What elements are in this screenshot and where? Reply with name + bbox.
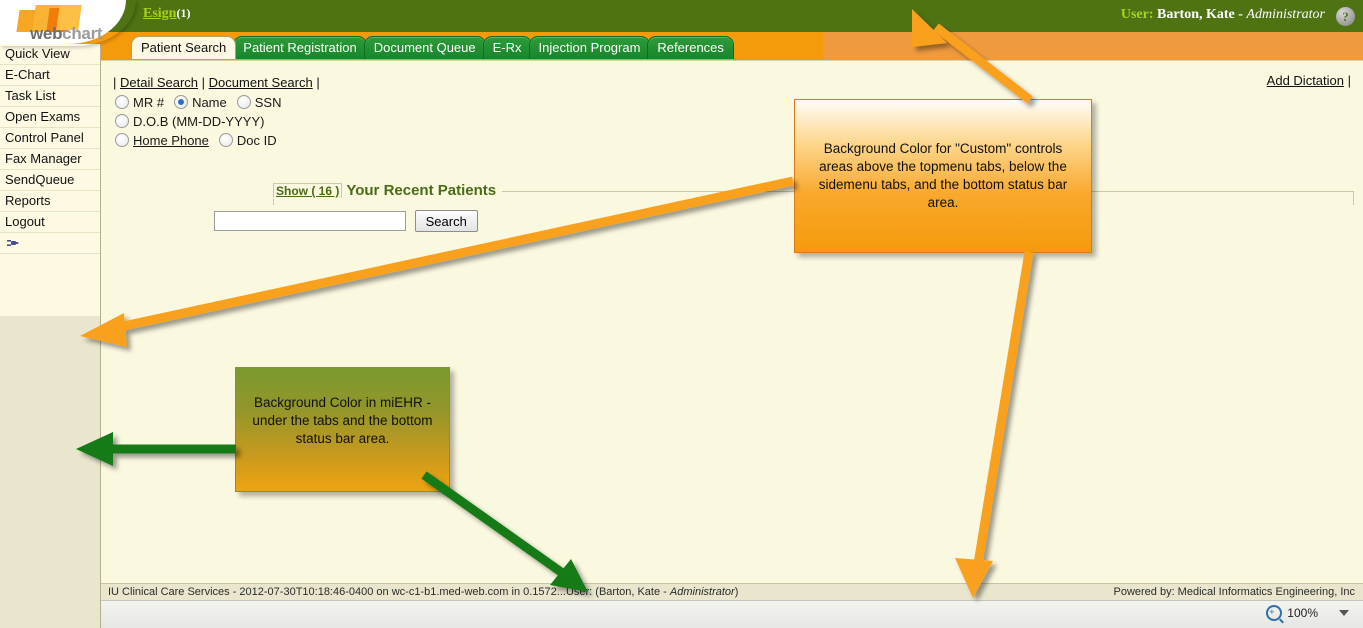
links-suffix: | bbox=[313, 75, 320, 90]
search-input[interactable] bbox=[214, 211, 406, 231]
add-dictation-area: Add Dictation | bbox=[1267, 73, 1351, 88]
powered-by-text: Powered by: Medical Informatics Engineer… bbox=[1113, 584, 1355, 600]
user-label: User: bbox=[1121, 7, 1154, 22]
sidebar-item-logout[interactable]: Logout bbox=[0, 212, 100, 233]
recent-show-toggle[interactable]: Show ( 16 ) bbox=[273, 183, 342, 198]
logo-web: web bbox=[30, 24, 62, 43]
magnifier-plus-icon[interactable]: + bbox=[1266, 605, 1282, 621]
user-role: Administrator bbox=[1246, 7, 1325, 22]
sidebar-plug-row[interactable] bbox=[0, 233, 100, 254]
logo-chart: chart bbox=[62, 24, 102, 43]
plug-icon[interactable] bbox=[6, 235, 19, 246]
callout-miehr-background-text: Background Color in miEHR - under the ta… bbox=[246, 394, 439, 448]
status-close: ) bbox=[735, 586, 739, 598]
radio-label-name: Name bbox=[192, 95, 227, 110]
sidebar-item-control-panel[interactable]: Control Panel bbox=[0, 128, 100, 149]
radio-label-home-phone[interactable]: Home Phone bbox=[133, 133, 209, 148]
top-menu-tabs: Patient SearchPatient RegistrationDocume… bbox=[131, 36, 731, 60]
sidebar-item-task-list[interactable]: Task List bbox=[0, 86, 100, 107]
radio-ssn[interactable] bbox=[237, 95, 251, 109]
radio-home-phone[interactable] bbox=[115, 133, 129, 147]
radio-dob[interactable] bbox=[115, 114, 129, 128]
document-search-link[interactable]: Document Search bbox=[209, 75, 313, 90]
add-dictation-suffix: | bbox=[1344, 73, 1351, 88]
sidebar-custom-background bbox=[0, 316, 100, 628]
add-dictation-link[interactable]: Add Dictation bbox=[1267, 73, 1344, 88]
zoom-control[interactable]: + 100% bbox=[1266, 605, 1349, 621]
tab-references[interactable]: References bbox=[647, 36, 733, 59]
callout-miehr-background: Background Color in miEHR - under the ta… bbox=[235, 367, 450, 492]
tab-patient-search[interactable]: Patient Search bbox=[131, 36, 236, 59]
links-sep: | bbox=[198, 75, 209, 90]
radio-label-ssn: SSN bbox=[255, 95, 282, 110]
user-name: Barton, Kate - bbox=[1157, 7, 1246, 22]
tab-injection-program[interactable]: Injection Program bbox=[529, 36, 651, 59]
radio-row-3: Home PhoneDoc ID bbox=[115, 131, 291, 150]
status-text: IU Clinical Care Services - 2012-07-30T1… bbox=[108, 586, 670, 598]
radio-row-1: MR #NameSSN bbox=[115, 93, 291, 112]
search-button[interactable]: Search bbox=[415, 210, 478, 232]
callout-custom-background: Background Color for "Custom" controls a… bbox=[794, 99, 1092, 253]
orange-accent-strip-light bbox=[823, 32, 1363, 60]
sidebar-item-sendqueue[interactable]: SendQueue bbox=[0, 170, 100, 191]
tab-patient-registration[interactable]: Patient Registration bbox=[233, 36, 366, 59]
sidebar-item-open-exams[interactable]: Open Exams bbox=[0, 107, 100, 128]
browser-status-bar: + 100% bbox=[0, 600, 1363, 628]
sidebar-item-quick-view[interactable]: Quick View bbox=[0, 44, 100, 65]
user-info: User: Barton, Kate - Administrator bbox=[1121, 7, 1325, 23]
links-prefix: | bbox=[113, 75, 120, 90]
radio-name[interactable] bbox=[174, 95, 188, 109]
application-window: Esign(1) User: Barton, Kate - Administra… bbox=[0, 0, 1363, 628]
status-bar: IU Clinical Care Services - 2012-07-30T1… bbox=[101, 583, 1363, 600]
search-mode-links: | Detail Search | Document Search | bbox=[113, 75, 320, 90]
callout-custom-background-text: Background Color for "Custom" controls a… bbox=[807, 140, 1079, 212]
tab-document-queue[interactable]: Document Queue bbox=[364, 36, 486, 59]
esign-area: Esign(1) bbox=[143, 6, 190, 22]
radio-doc-id[interactable] bbox=[219, 133, 233, 147]
search-type-radio-group: MR #NameSSN D.O.B (MM-DD-YYYY) Home Phon… bbox=[115, 93, 291, 150]
side-menu: Quick View E-Chart Task List Open Exams … bbox=[0, 44, 101, 628]
radio-label-doc-id: Doc ID bbox=[237, 133, 277, 148]
esign-count: (1) bbox=[176, 6, 190, 20]
help-icon[interactable]: ? bbox=[1336, 7, 1355, 26]
content-area: | Detail Search | Document Search | Add … bbox=[101, 60, 1363, 584]
detail-search-link[interactable]: Detail Search bbox=[120, 75, 198, 90]
esign-link[interactable]: Esign bbox=[143, 6, 176, 21]
top-header-bar: Esign(1) User: Barton, Kate - Administra… bbox=[0, 0, 1363, 32]
sidebar-item-e-chart[interactable]: E-Chart bbox=[0, 65, 100, 86]
radio-label-mr-number: MR # bbox=[133, 95, 164, 110]
tab-e-rx[interactable]: E-Rx bbox=[483, 36, 532, 59]
logo-wordmark: webchart bbox=[30, 24, 102, 44]
radio-row-2: D.O.B (MM-DD-YYYY) bbox=[115, 112, 291, 131]
radio-label-dob: D.O.B (MM-DD-YYYY) bbox=[133, 114, 264, 129]
sidebar-item-reports[interactable]: Reports bbox=[0, 191, 100, 212]
radio-mr-number[interactable] bbox=[115, 95, 129, 109]
status-bar-left-text: IU Clinical Care Services - 2012-07-30T1… bbox=[108, 584, 738, 600]
zoom-level: 100% bbox=[1287, 606, 1318, 620]
recent-legend: Show ( 16 )Your Recent Patients bbox=[273, 182, 502, 199]
chevron-down-icon[interactable] bbox=[1339, 610, 1349, 616]
search-row: Search bbox=[214, 210, 478, 232]
recent-patients-title: Your Recent Patients bbox=[346, 182, 496, 199]
status-role: Administrator bbox=[670, 586, 735, 598]
sidebar-item-fax-manager[interactable]: Fax Manager bbox=[0, 149, 100, 170]
